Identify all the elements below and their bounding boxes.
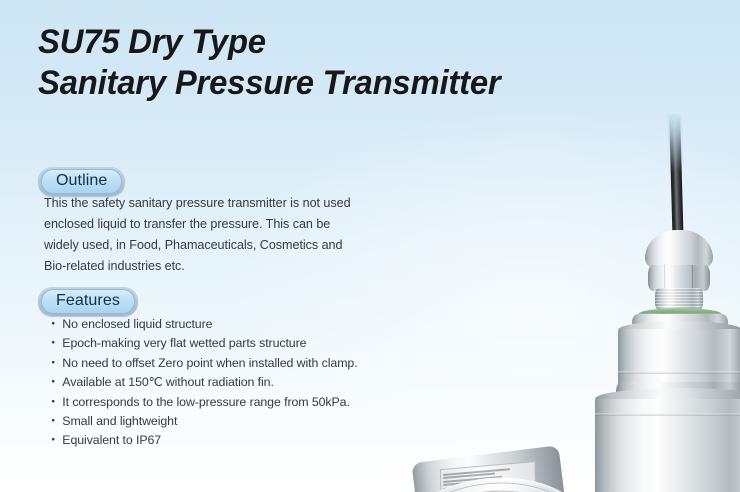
bullet-icon: ・: [47, 395, 59, 409]
product-photo: SU75 PRESSURE TRANSMITTER RANGE : 0~0.5M…: [380, 118, 740, 492]
features-badge-label: Features: [41, 289, 135, 314]
outline-badge-label: Outline: [41, 169, 122, 194]
features-section-header: Features: [38, 287, 138, 316]
feature-text: It corresponds to the low-pressure range…: [62, 395, 350, 409]
features-list: ・No enclosed liquid structure ・Epoch-mak…: [47, 315, 392, 451]
outline-section-header: Outline: [38, 167, 125, 196]
feature-text: Available at 150℃ without radiation fin.: [62, 375, 274, 389]
tilted-unit-diaphragm-view: [388, 454, 596, 492]
feature-text: Small and lightweight: [62, 414, 177, 428]
bullet-icon: ・: [47, 356, 59, 370]
product-datasheet-page: SU75 Dry Type Sanitary Pressure Transmit…: [0, 0, 740, 492]
page-title-line-2: Sanitary Pressure Transmitter: [38, 63, 694, 104]
features-badge: Features: [38, 287, 138, 316]
bullet-icon: ・: [47, 433, 59, 447]
transmitter-housing: SU75 PRESSURE TRANSMITTER RANGE : 0~0.5M…: [595, 399, 740, 492]
feature-text: No enclosed liquid structure: [62, 317, 212, 331]
feature-text: Epoch-making very flat wetted parts stru…: [62, 336, 306, 350]
outline-body: This the safety sanitary pressure transm…: [44, 193, 362, 277]
page-title: SU75 Dry Type Sanitary Pressure Transmit…: [38, 22, 718, 104]
list-item: ・Available at 150℃ without radiation fin…: [47, 373, 392, 392]
list-item: ・Equivalent to IP67: [47, 431, 392, 450]
bullet-icon: ・: [47, 336, 59, 350]
list-item: ・It corresponds to the low-pressure rang…: [47, 393, 392, 412]
cable-gland-dome: [645, 230, 713, 270]
feature-text: Equivalent to IP67: [62, 433, 161, 447]
feature-text: No need to offset Zero point when instal…: [62, 356, 357, 370]
list-item: ・Small and lightweight: [47, 412, 392, 431]
outline-badge: Outline: [38, 167, 125, 196]
list-item: ・No enclosed liquid structure: [47, 315, 392, 334]
outline-paragraph: This the safety sanitary pressure transm…: [44, 193, 362, 277]
bullet-icon: ・: [47, 317, 59, 331]
list-item: ・Epoch-making very flat wetted parts str…: [47, 334, 392, 353]
bullet-icon: ・: [47, 414, 59, 428]
list-item: ・No need to offset Zero point when insta…: [47, 354, 392, 373]
page-title-line-1: SU75 Dry Type: [38, 22, 694, 63]
bullet-icon: ・: [47, 375, 59, 389]
cable-gland-neck: [655, 288, 703, 310]
